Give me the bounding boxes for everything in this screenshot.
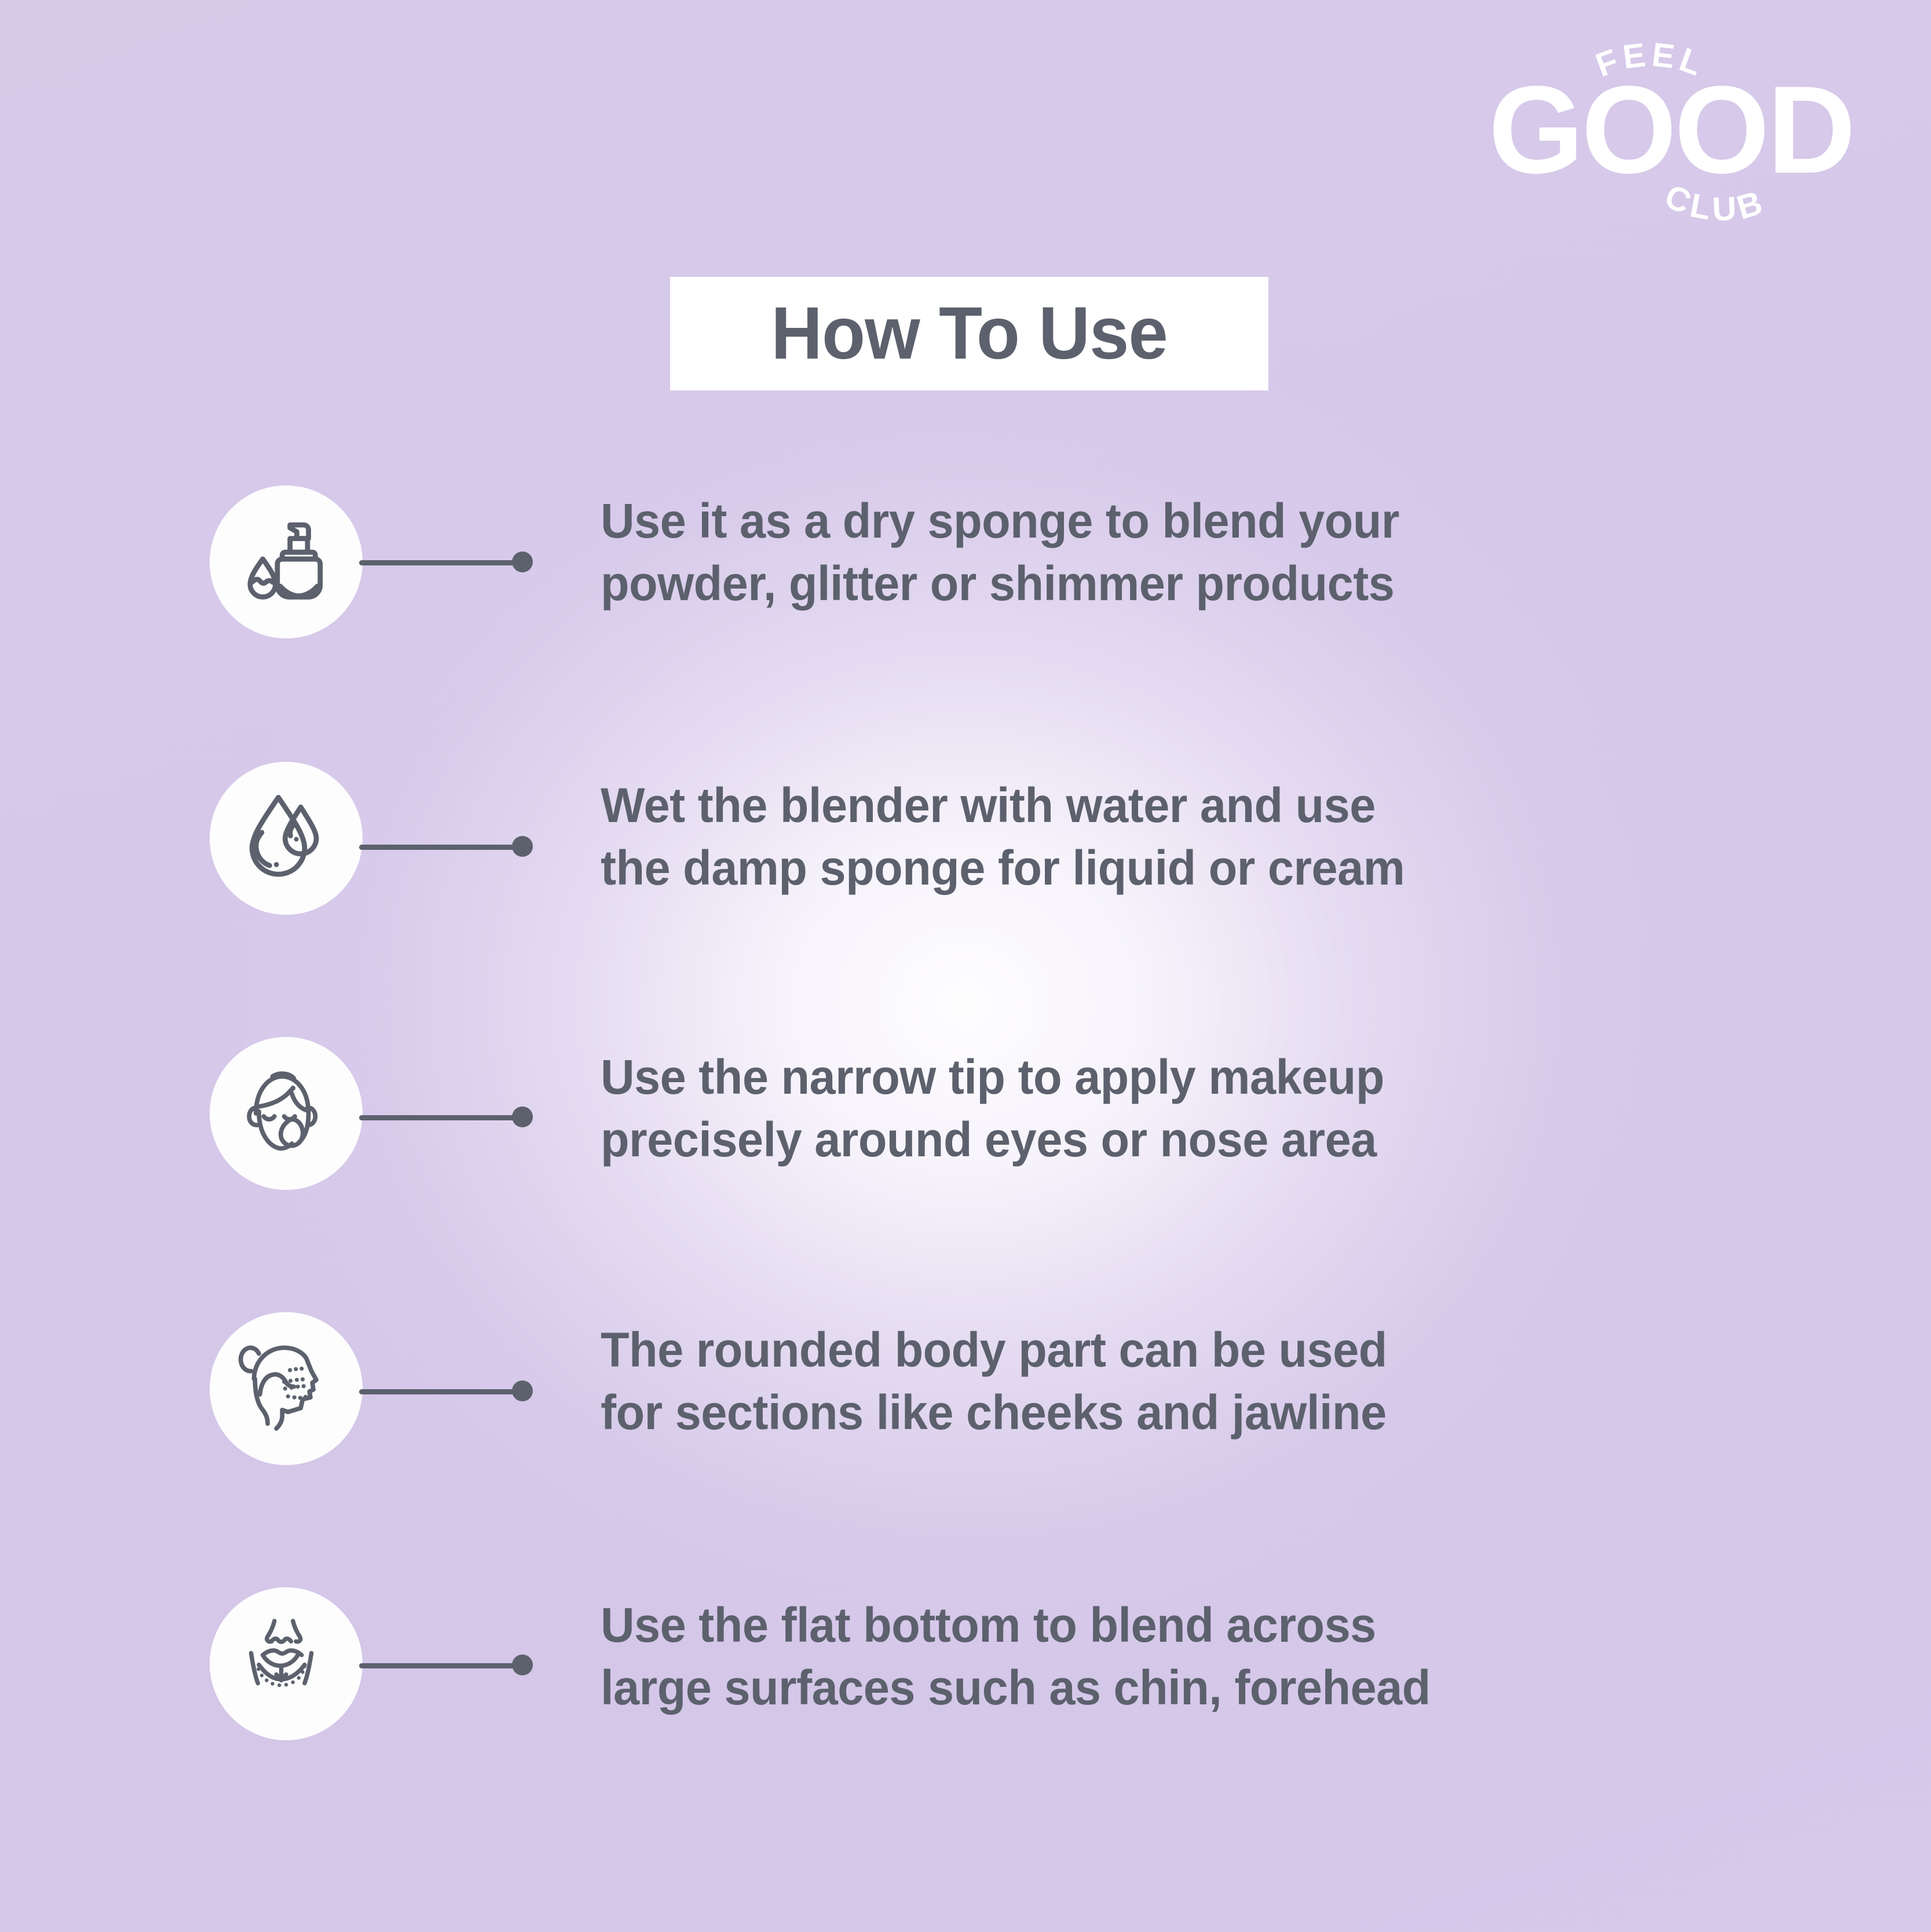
step-connector xyxy=(359,842,533,851)
step-text: The rounded body part can be used for se… xyxy=(601,1319,1718,1444)
step-text-line1: Wet the blender with water and use xyxy=(601,775,1718,837)
step-text: Use the narrow tip to apply makeup preci… xyxy=(601,1046,1718,1171)
step-text-line2: precisely around eyes or nose area xyxy=(601,1109,1718,1171)
step-text: Use it as a dry sponge to blend your pow… xyxy=(601,490,1718,615)
list-item: Use the flat bottom to blend across larg… xyxy=(0,1586,1931,1861)
connector-line xyxy=(359,1389,521,1394)
water-droplets-icon xyxy=(237,790,335,887)
step-text-line1: Use the narrow tip to apply makeup xyxy=(601,1046,1718,1109)
step-text-line2: large surfaces such as chin, forehead xyxy=(601,1657,1718,1719)
step-icon-badge xyxy=(210,1037,363,1190)
lower-face-chin-icon xyxy=(237,1615,335,1712)
steps-list: Use it as a dry sponge to blend your pow… xyxy=(0,485,1931,1861)
connector-line xyxy=(359,1663,521,1668)
list-item: Wet the blender with water and use the d… xyxy=(0,761,1931,1036)
step-text-line1: Use the flat bottom to blend across xyxy=(601,1594,1718,1657)
list-item: Use it as a dry sponge to blend your pow… xyxy=(0,485,1931,761)
page-title: How To Use xyxy=(771,297,1167,371)
step-text-line2: for sections like cheeks and jawline xyxy=(601,1382,1718,1444)
connector-line xyxy=(359,845,521,850)
step-text-line1: The rounded body part can be used xyxy=(601,1319,1718,1382)
step-connector xyxy=(359,1386,533,1396)
connector-line xyxy=(359,1115,521,1120)
step-connector xyxy=(359,1660,533,1670)
how-to-use-infographic: FEEL GOOD CLUB How To Use xyxy=(0,0,1931,1932)
svg-text:GOOD: GOOD xyxy=(1489,60,1853,199)
step-connector xyxy=(359,1112,533,1122)
step-icon-badge xyxy=(210,1587,363,1740)
step-text: Use the flat bottom to blend across larg… xyxy=(601,1594,1718,1719)
step-text-line2: the damp sponge for liquid or cream xyxy=(601,837,1718,900)
foundation-bottle-droplet-icon xyxy=(237,513,335,611)
connector-dot xyxy=(512,1380,533,1401)
page-title-box: How To Use xyxy=(670,277,1268,390)
connector-dot xyxy=(512,1106,533,1127)
connector-dot xyxy=(512,1655,533,1675)
step-text-line1: Use it as a dry sponge to blend your xyxy=(601,490,1718,553)
step-icon-badge xyxy=(210,1312,363,1465)
step-text: Wet the blender with water and use the d… xyxy=(601,775,1718,899)
list-item: The rounded body part can be used for se… xyxy=(0,1311,1931,1586)
step-text-line2: powder, glitter or shimmer products xyxy=(601,553,1718,615)
face-applying-makeup-icon xyxy=(237,1065,335,1162)
connector-dot xyxy=(512,552,533,572)
list-item: Use the narrow tip to apply makeup preci… xyxy=(0,1036,1931,1311)
step-icon-badge xyxy=(210,762,363,915)
step-connector xyxy=(359,557,533,567)
connector-dot xyxy=(512,836,533,857)
step-icon-badge xyxy=(210,485,363,638)
connector-line xyxy=(359,560,521,565)
face-profile-cheek-jawline-icon xyxy=(237,1340,335,1437)
feel-good-club-logo: FEEL GOOD CLUB xyxy=(1483,28,1865,225)
